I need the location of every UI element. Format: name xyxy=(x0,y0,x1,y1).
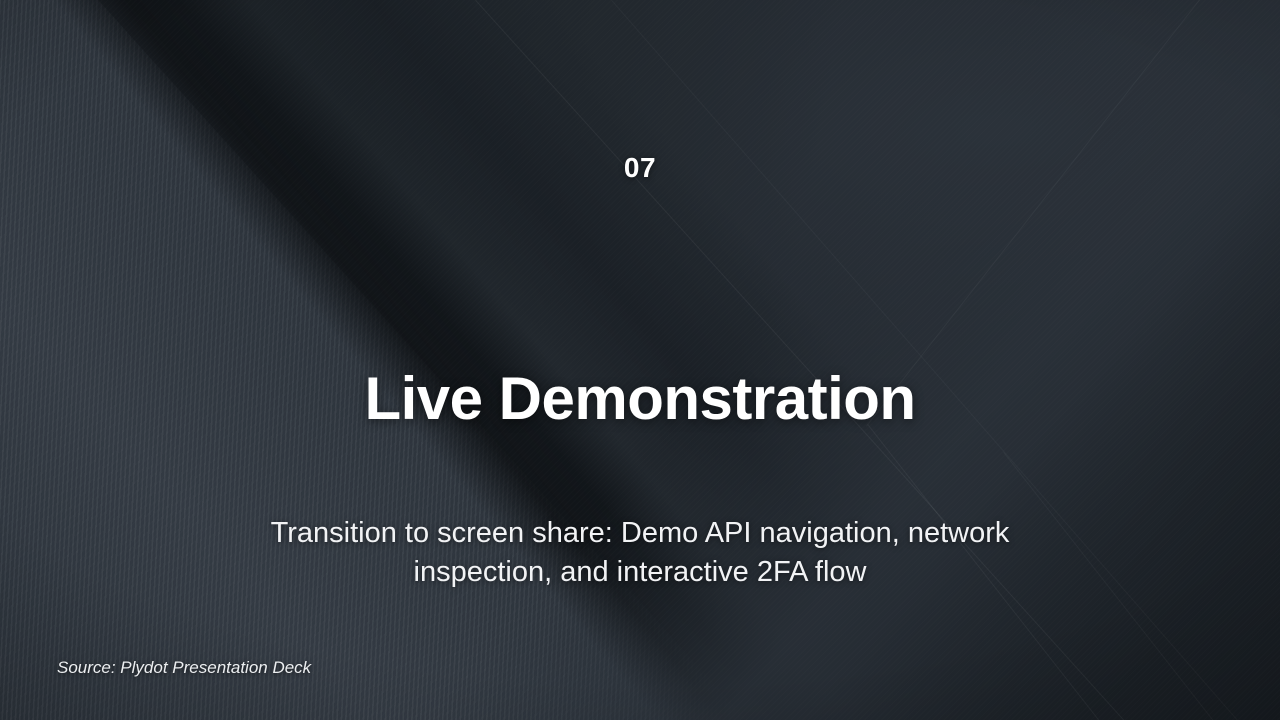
page-title: Live Demonstration xyxy=(0,366,1280,432)
slide-content: 07 Live Demonstration Transition to scre… xyxy=(0,0,1280,720)
slide-subtitle: Transition to screen share: Demo API nav… xyxy=(230,514,1050,593)
slide-source-attribution: Source: Plydot Presentation Deck xyxy=(57,658,311,678)
slide-number: 07 xyxy=(0,152,1280,184)
presentation-slide: 07 Live Demonstration Transition to scre… xyxy=(0,0,1280,720)
